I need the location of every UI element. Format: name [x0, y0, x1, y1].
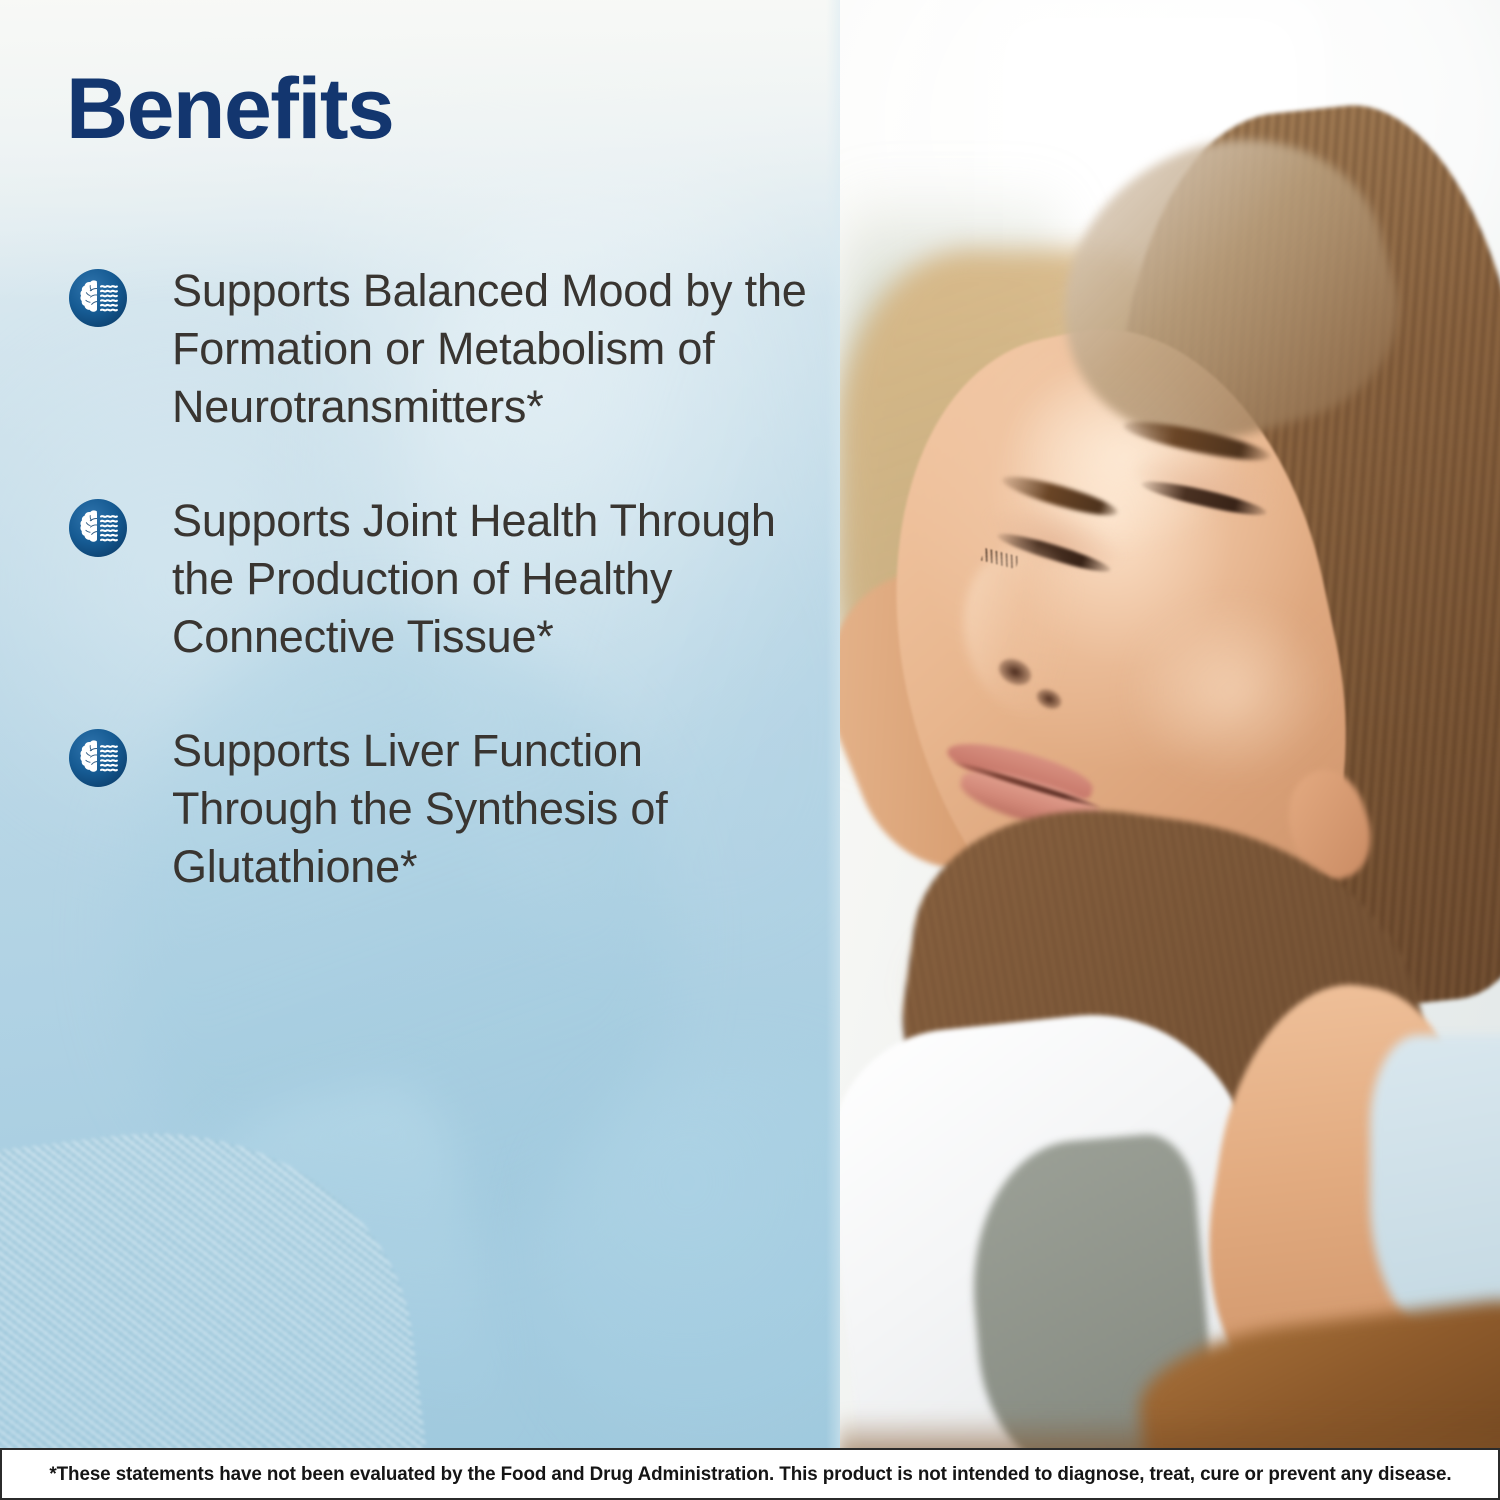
benefits-infographic: Benefits: [0, 0, 1500, 1500]
list-item: Supports Liver Function Through the Synt…: [0, 722, 840, 896]
brain-waves-icon: [68, 268, 128, 328]
list-item-label: Supports Joint Health Through the Produc…: [172, 492, 812, 666]
benefits-content: Benefits: [0, 0, 840, 1500]
fda-disclaimer-bar: *These statements have not been evaluate…: [0, 1448, 1500, 1500]
list-item-label: Supports Liver Function Through the Synt…: [172, 722, 812, 896]
photo-cheek-highlight: [1130, 600, 1330, 780]
fda-disclaimer-text: *These statements have not been evaluate…: [49, 1463, 1451, 1486]
brain-waves-icon: [68, 498, 128, 558]
list-item: Supports Balanced Mood by the Formation …: [0, 262, 840, 436]
page-title: Benefits: [66, 66, 393, 152]
photo-blue-cushion: [1370, 1035, 1500, 1335]
brain-waves-icon: [68, 728, 128, 788]
list-item-label: Supports Balanced Mood by the Formation …: [172, 262, 812, 436]
list-item: Supports Joint Health Through the Produc…: [0, 492, 840, 666]
benefits-list: Supports Balanced Mood by the Formation …: [0, 262, 840, 952]
